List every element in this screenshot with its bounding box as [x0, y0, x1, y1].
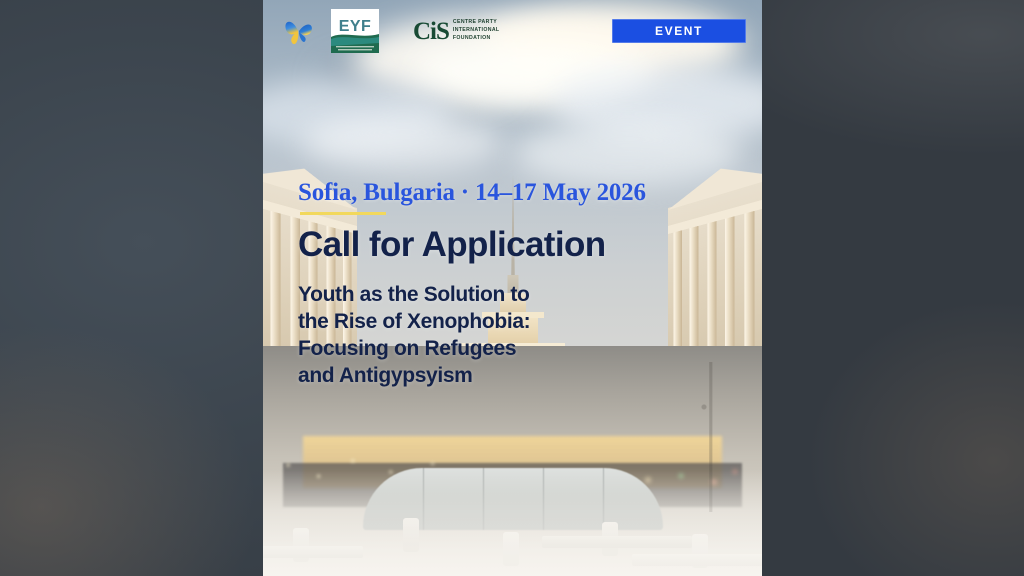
event-badge: EVENT: [612, 19, 746, 43]
letterbox-backdrop-right: [762, 0, 1024, 576]
letterbox-backdrop-left: [0, 0, 263, 576]
event-location-date: Sofia, Bulgaria · 14–17 May 2026: [298, 180, 732, 206]
atmospheric-haze: [263, 470, 762, 576]
subhead-line: Focusing on Refugees: [298, 336, 628, 363]
subhead-line: the Rise of Xenophobia:: [298, 309, 628, 336]
poster-text-block: Sofia, Bulgaria · 14–17 May 2026 Call fo…: [298, 180, 732, 390]
poster-headline: Call for Application: [298, 227, 732, 264]
svg-text:EYF: EYF: [339, 18, 372, 35]
gold-underline-rule: [300, 212, 386, 215]
cis-wordmark: CiS: [413, 19, 449, 44]
butterfly-icon: [281, 13, 317, 49]
video-frame: EYF CiS CENTRE PARTY INTERNATIONAL FOUND…: [0, 0, 1024, 576]
logo-bar: EYF CiS CENTRE PARTY INTERNATIONAL FOUND…: [263, 0, 762, 62]
eyf-logo: EYF: [331, 9, 379, 53]
cis-tagline: CENTRE PARTY INTERNATIONAL FOUNDATION: [453, 19, 500, 42]
subhead-line: and Antigypsyism: [298, 363, 628, 390]
poster-subheadline: Youth as the Solution to the Rise of Xen…: [298, 282, 628, 390]
cis-logo: CiS CENTRE PARTY INTERNATIONAL FOUNDATIO…: [413, 16, 499, 46]
subhead-line: Youth as the Solution to: [298, 282, 628, 309]
cloud-shape: [303, 114, 503, 171]
poster-panel: EYF CiS CENTRE PARTY INTERNATIONAL FOUND…: [263, 0, 762, 576]
